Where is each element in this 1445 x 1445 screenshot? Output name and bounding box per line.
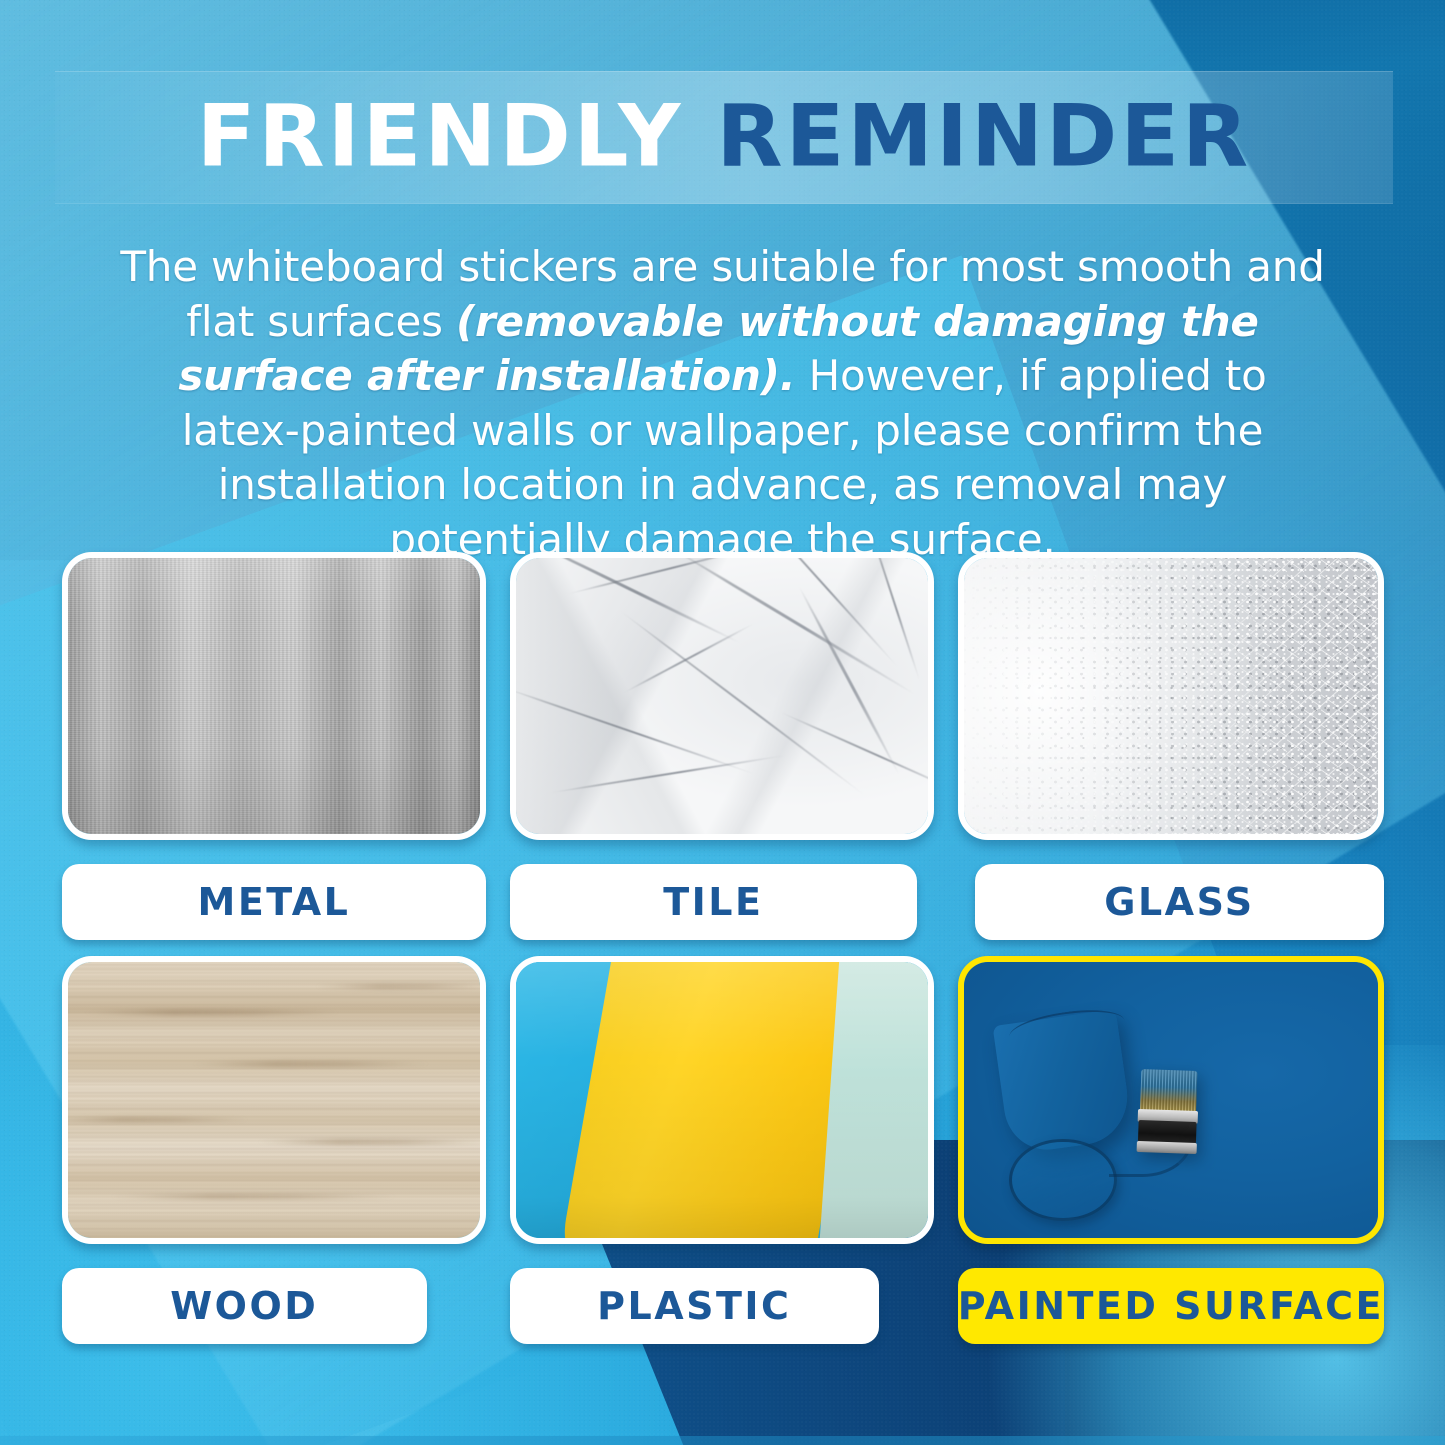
surface-thumbnail-tile	[510, 552, 934, 840]
paintbrush-bristles	[1140, 1069, 1197, 1114]
surface-label-pill-metal: METAL	[62, 864, 486, 940]
surface-card-glass[interactable]: GLASS	[958, 552, 1384, 940]
white-marble-texture	[516, 558, 928, 834]
frosted-glass-texture	[964, 558, 1378, 834]
colored-plastic-texture	[516, 962, 928, 1238]
surface-thumbnail-wood	[62, 956, 486, 1244]
brushed-metal-texture	[68, 558, 480, 834]
surface-label-pill-plastic: PLASTIC	[510, 1268, 879, 1344]
surface-label-pill-tile: TILE	[510, 864, 917, 940]
plastic-sheen	[516, 962, 928, 1238]
page-title: FRIENDLY REMINDER	[55, 93, 1393, 179]
surface-thumbnail-metal	[62, 552, 486, 840]
surface-grid: METAL TIL	[62, 552, 1384, 1344]
surface-label-tile: TILE	[663, 880, 763, 924]
paint-ring	[1009, 1139, 1117, 1222]
surface-label-glass: GLASS	[1104, 880, 1254, 924]
surface-label-pill-glass: GLASS	[975, 864, 1384, 940]
surface-card-wood[interactable]: WOOD	[62, 956, 486, 1344]
header-banner: FRIENDLY REMINDER	[55, 71, 1393, 204]
paintbrush-handle	[1138, 1120, 1196, 1144]
surface-label-wood: WOOD	[170, 1284, 318, 1328]
surface-label-pill-wood: WOOD	[62, 1268, 427, 1344]
paintbrush-ferrule-lower	[1136, 1141, 1196, 1154]
friendly-reminder-poster: FRIENDLY REMINDER The whiteboard sticker…	[0, 0, 1445, 1445]
body-line-3-emphasis: installation).	[495, 351, 795, 400]
light-wood-grain-texture	[68, 962, 480, 1238]
page-title-reminder: REMINDER	[716, 86, 1251, 186]
surface-thumbnail-glass	[958, 552, 1384, 840]
surface-card-metal[interactable]: METAL	[62, 552, 486, 940]
surface-label-plastic: PLASTIC	[597, 1284, 791, 1328]
background-bottom-strip	[0, 1436, 1445, 1445]
glass-sparkle-pattern	[964, 558, 1378, 834]
body-line-2-prefix: surfaces	[267, 297, 456, 346]
surface-card-tile[interactable]: TILE	[510, 552, 934, 940]
surface-label-painted: PAINTED SURFACE	[958, 1284, 1384, 1328]
page-title-friendly: FRIENDLY	[197, 86, 684, 186]
paintbrush-icon	[1136, 1069, 1199, 1154]
body-paragraph: The whiteboard stickers are suitable for…	[115, 240, 1330, 568]
surface-thumbnail-plastic	[510, 956, 934, 1244]
surface-label-metal: METAL	[198, 880, 351, 924]
surface-card-plastic[interactable]: PLASTIC	[510, 956, 934, 1344]
surface-label-pill-painted: PAINTED SURFACE	[958, 1268, 1384, 1344]
surface-card-painted[interactable]: PAINTED SURFACE	[958, 956, 1384, 1344]
surface-thumbnail-painted	[958, 956, 1384, 1244]
painted-surface-photo	[964, 962, 1378, 1238]
